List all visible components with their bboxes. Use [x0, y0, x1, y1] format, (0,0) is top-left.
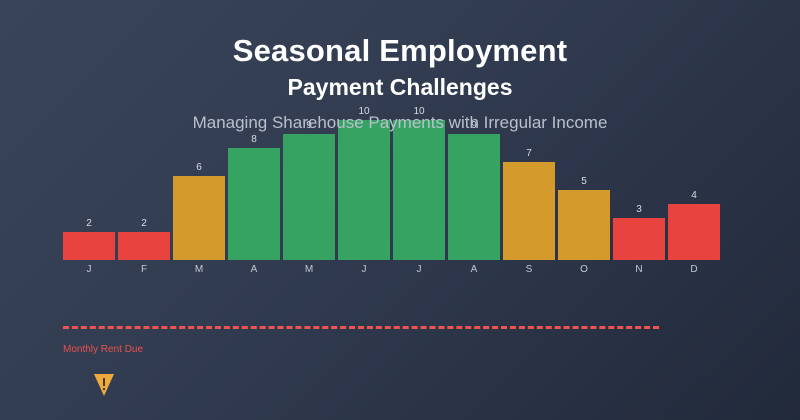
warning-triangle-icon [92, 372, 116, 398]
bar [228, 148, 280, 260]
bar-slot: 4D [668, 120, 720, 260]
bar [118, 232, 170, 260]
bar-category-label: S [503, 264, 555, 276]
bar-category-label: D [668, 264, 720, 276]
bar-slot: 6M [173, 120, 225, 260]
bar-value-label: 6 [173, 162, 225, 174]
bar [668, 204, 720, 260]
bar-value-label: 2 [63, 218, 115, 230]
bar-value-label: 3 [613, 204, 665, 216]
bar-category-label: F [118, 264, 170, 276]
bar-value-label: 8 [228, 134, 280, 146]
bar-value-label: 7 [503, 148, 555, 160]
bar [613, 218, 665, 260]
page-subtitle: Payment Challenges [0, 72, 800, 102]
bar-category-label: J [393, 264, 445, 276]
rent-threshold-label: Monthly Rent Due [63, 343, 143, 356]
bar-slot: 3N [613, 120, 665, 260]
bar-slot: 5O [558, 120, 610, 260]
bar-value-label: 2 [118, 218, 170, 230]
bar-slot: 9A [448, 120, 500, 260]
bar-category-label: M [283, 264, 335, 276]
bar [283, 134, 335, 260]
bar-category-label: M [173, 264, 225, 276]
bar-slot: 8A [228, 120, 280, 260]
bar-chart: 2J2F6M8A9M10J10J9A7S5O3N4D [63, 120, 723, 280]
bar [338, 120, 390, 260]
infographic-poster: Seasonal Employment Payment Challenges M… [0, 0, 800, 420]
bar-slot: 10J [393, 120, 445, 260]
bar-slot: 2J [63, 120, 115, 260]
bar-slot: 2F [118, 120, 170, 260]
bar-value-label: 5 [558, 176, 610, 188]
tagline: Managing Sharehouse Payments with Irregu… [0, 112, 800, 134]
bar-slot: 9M [283, 120, 335, 260]
bar [393, 120, 445, 260]
bar-category-label: N [613, 264, 665, 276]
bar-category-label: O [558, 264, 610, 276]
page-title: Seasonal Employment [0, 32, 800, 70]
bar-category-label: J [63, 264, 115, 276]
bar-series: 2J2F6M8A9M10J10J9A7S5O3N4D [63, 120, 723, 260]
bar [503, 162, 555, 260]
bar [558, 190, 610, 260]
bar-slot: 10J [338, 120, 390, 260]
bar-value-label: 4 [668, 190, 720, 202]
bar-category-label: A [448, 264, 500, 276]
bar-category-label: A [228, 264, 280, 276]
bar [63, 232, 115, 260]
rent-threshold-line [63, 326, 659, 329]
bar [173, 176, 225, 260]
bar [448, 134, 500, 260]
bar-slot: 7S [503, 120, 555, 260]
title-block: Seasonal Employment Payment Challenges [0, 32, 800, 102]
bar-category-label: J [338, 264, 390, 276]
